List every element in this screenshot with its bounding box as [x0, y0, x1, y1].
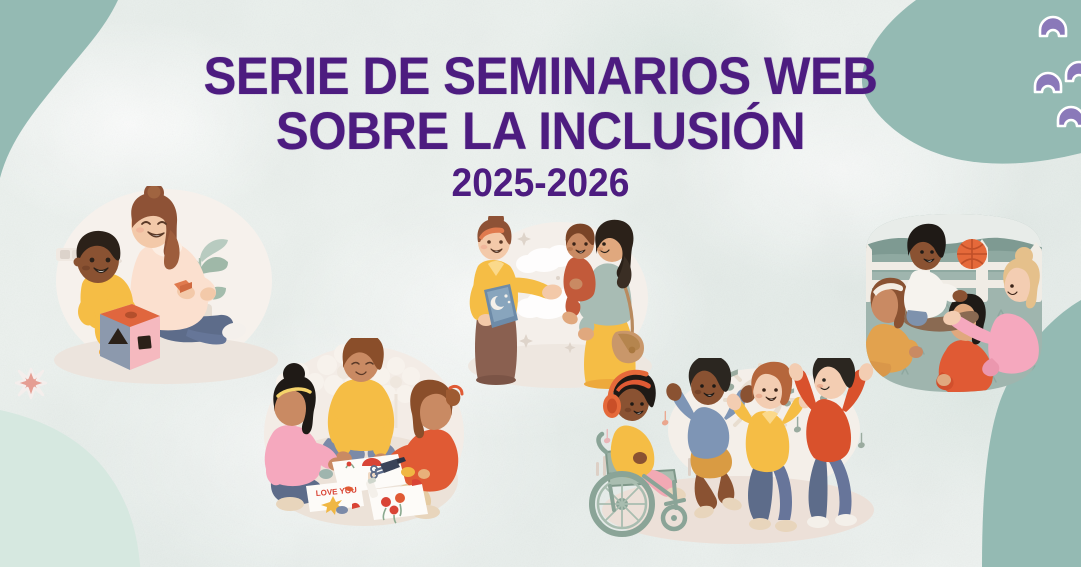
illustration-children-crafts: LOVE YOU: [248, 338, 480, 534]
illus-floor-shadow: [54, 336, 278, 384]
illustration-children-playing-ball: [848, 212, 1060, 402]
shoe: [807, 516, 829, 528]
shape-sorter-cube: [100, 304, 160, 370]
pants: [748, 466, 773, 520]
webinar-series-banner: SERIE DE SEMINARIOS WEB SOBRE LA INCLUSI…: [0, 0, 1081, 567]
child-eye: [90, 258, 95, 263]
wheelchair-wheel-large: [592, 474, 652, 534]
hair-bun: [1015, 247, 1033, 265]
cube-square-hole: [137, 335, 151, 349]
bottom-left-blob: [0, 410, 140, 567]
top-left-blob: [0, 0, 118, 178]
basketball: [957, 239, 987, 269]
shoe: [749, 518, 771, 530]
hair-bun: [283, 363, 305, 385]
hair-tie: [446, 389, 460, 406]
wheelchair-handle: [599, 434, 606, 452]
illustration-children-dancing-music: [588, 358, 878, 548]
cube-round-hole: [125, 312, 137, 319]
